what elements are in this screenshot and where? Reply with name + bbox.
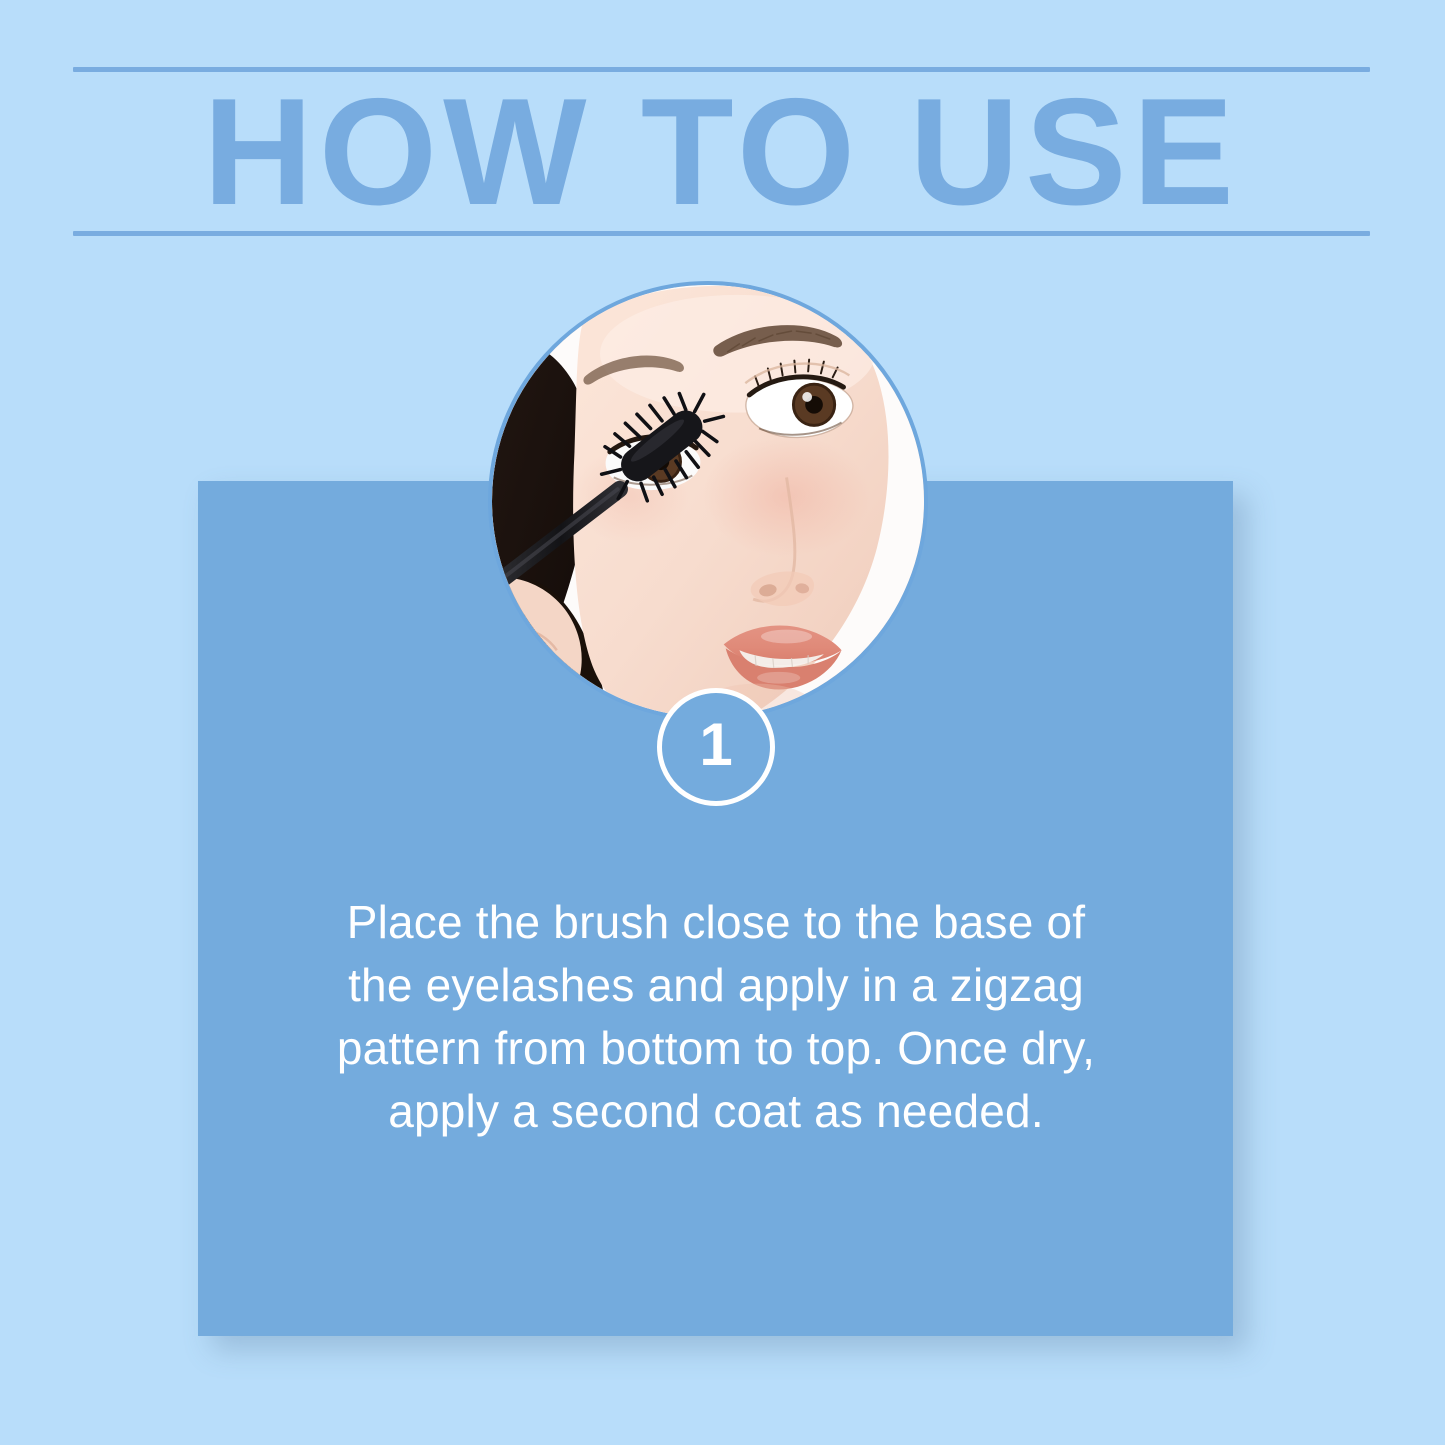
- header-bottom-divider: [73, 231, 1370, 236]
- step-description: Place the brush close to the base of the…: [316, 891, 1116, 1143]
- photo-illustration: [492, 285, 924, 717]
- how-to-use-card: HOW TO USE Place the brush close to the …: [0, 0, 1445, 1445]
- mascara-application-photo: [488, 281, 928, 721]
- step-number-label: 1: [699, 715, 732, 779]
- step-number-badge: 1: [657, 688, 775, 806]
- page-title: HOW TO USE: [73, 78, 1370, 226]
